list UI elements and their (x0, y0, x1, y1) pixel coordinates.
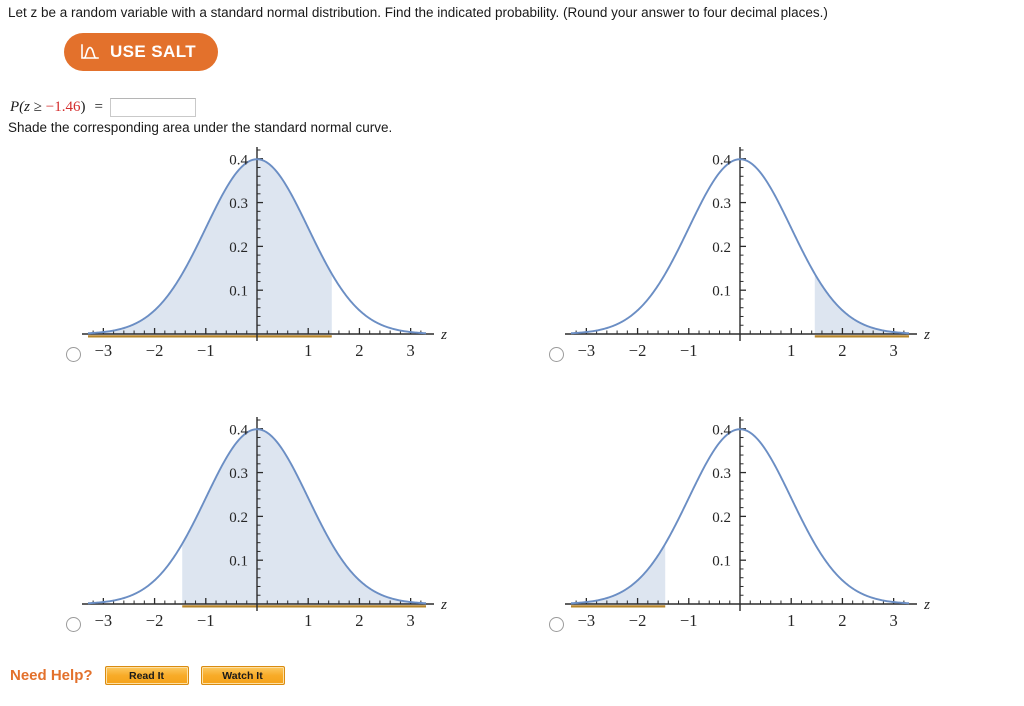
answer-input[interactable] (110, 98, 196, 117)
svg-text:0.2: 0.2 (229, 240, 248, 256)
svg-text:−1: −1 (197, 341, 215, 360)
watch-it-label: Watch It (222, 670, 262, 682)
svg-text:1: 1 (304, 611, 312, 630)
svg-text:0.4: 0.4 (229, 422, 248, 438)
chart-option-b[interactable]: −3−2−11230.10.20.30.4z (541, 138, 1024, 366)
chart-option-c[interactable]: −3−2−11230.10.20.30.4z (58, 408, 541, 636)
need-help-bar: Need Help? Read It Watch It (10, 666, 285, 685)
svg-text:−3: −3 (578, 341, 596, 360)
probability-expression: P(z ≥ −1.46) (10, 99, 85, 116)
read-it-label: Read It (129, 670, 164, 682)
chart-options-group: −3−2−11230.10.20.30.4z −3−2−11230.10.20.… (0, 138, 1024, 636)
distribution-curve-icon (80, 43, 100, 61)
svg-text:0.1: 0.1 (712, 554, 731, 570)
svg-text:3: 3 (407, 611, 415, 630)
svg-text:0.1: 0.1 (229, 284, 248, 300)
radio-option-c[interactable] (66, 617, 81, 632)
chart-row-bottom: −3−2−11230.10.20.30.4z −3−2−11230.10.20.… (0, 408, 1024, 636)
svg-text:1: 1 (787, 611, 795, 630)
svg-text:0.1: 0.1 (229, 554, 248, 570)
use-salt-label: USE SALT (110, 42, 196, 62)
svg-text:2: 2 (838, 611, 846, 630)
svg-text:z: z (440, 597, 447, 613)
svg-text:−3: −3 (95, 341, 113, 360)
svg-text:2: 2 (355, 611, 363, 630)
need-help-label: Need Help? (10, 667, 93, 684)
normal-curve-chart-d[interactable]: −3−2−11230.10.20.30.4z (541, 408, 941, 636)
svg-text:0.3: 0.3 (712, 466, 731, 482)
radio-option-a[interactable] (66, 347, 81, 362)
svg-text:−3: −3 (578, 611, 596, 630)
svg-text:2: 2 (355, 341, 363, 360)
shade-instruction: Shade the corresponding area under the s… (8, 120, 392, 135)
question-prompt: Let z be a random variable with a standa… (8, 5, 828, 21)
svg-text:0.2: 0.2 (712, 240, 731, 256)
watch-it-button[interactable]: Watch It (201, 666, 285, 685)
svg-text:−2: −2 (629, 341, 647, 360)
equals-sign: = (94, 99, 102, 116)
svg-text:−1: −1 (680, 341, 698, 360)
svg-text:0.3: 0.3 (712, 196, 731, 212)
normal-curve-chart-b[interactable]: −3−2−11230.10.20.30.4z (541, 138, 941, 366)
read-it-button[interactable]: Read It (105, 666, 189, 685)
svg-text:0.4: 0.4 (712, 152, 731, 168)
svg-text:0.3: 0.3 (229, 466, 248, 482)
probability-prefix: P( (10, 99, 24, 115)
svg-text:−2: −2 (146, 341, 164, 360)
svg-text:z: z (440, 327, 447, 343)
chart-option-a[interactable]: −3−2−11230.10.20.30.4z (58, 138, 541, 366)
probability-suffix: ) (80, 99, 85, 115)
svg-text:1: 1 (787, 341, 795, 360)
svg-text:−2: −2 (629, 611, 647, 630)
svg-text:0.4: 0.4 (229, 152, 248, 168)
svg-text:3: 3 (407, 341, 415, 360)
svg-text:0.4: 0.4 (712, 422, 731, 438)
probability-row: P(z ≥ −1.46) = (10, 96, 196, 118)
chart-row-top: −3−2−11230.10.20.30.4z −3−2−11230.10.20.… (0, 138, 1024, 366)
svg-text:3: 3 (890, 341, 898, 360)
use-salt-button[interactable]: USE SALT (64, 33, 218, 71)
svg-text:2: 2 (838, 341, 846, 360)
svg-text:−2: −2 (146, 611, 164, 630)
normal-curve-chart-a[interactable]: −3−2−11230.10.20.30.4z (58, 138, 458, 366)
svg-text:z: z (923, 327, 930, 343)
svg-text:0.3: 0.3 (229, 196, 248, 212)
svg-text:0.2: 0.2 (712, 510, 731, 526)
probability-value: −1.46 (46, 99, 81, 115)
question-prompt-text: Let z be a random variable with a standa… (8, 5, 828, 20)
svg-text:0.1: 0.1 (712, 284, 731, 300)
radio-option-d[interactable] (549, 617, 564, 632)
svg-text:0.2: 0.2 (229, 510, 248, 526)
radio-option-b[interactable] (549, 347, 564, 362)
svg-text:3: 3 (890, 611, 898, 630)
svg-text:−3: −3 (95, 611, 113, 630)
svg-text:z: z (923, 597, 930, 613)
probability-operator: ≥ (30, 99, 46, 115)
svg-text:1: 1 (304, 341, 312, 360)
normal-curve-chart-c[interactable]: −3−2−11230.10.20.30.4z (58, 408, 458, 636)
svg-text:−1: −1 (680, 611, 698, 630)
chart-option-d[interactable]: −3−2−11230.10.20.30.4z (541, 408, 1024, 636)
svg-text:−1: −1 (197, 611, 215, 630)
